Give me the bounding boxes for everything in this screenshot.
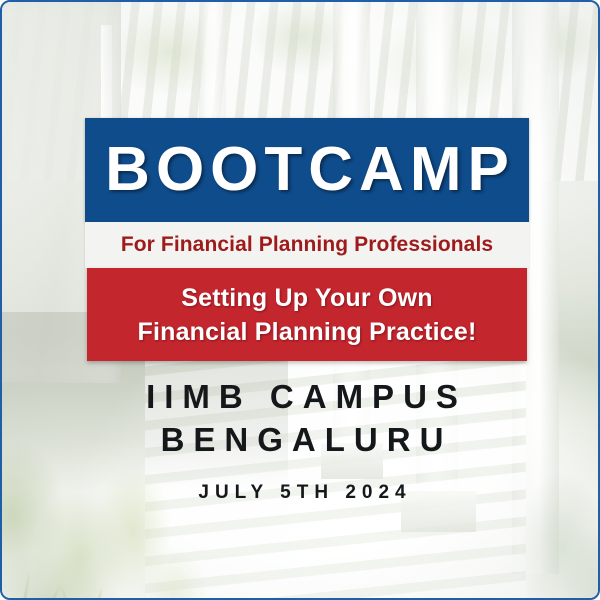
venue-line-1: IIMB CAMPUS <box>2 376 600 419</box>
audience-subtitle: For Financial Planning Professionals <box>121 233 493 257</box>
venue-block: IIMB CAMPUS BENGALURU JULY 5TH 2024 <box>2 376 600 504</box>
subtitle-band: For Financial Planning Professionals <box>85 222 529 268</box>
headline-band: Setting Up Your Own Financial Planning P… <box>87 268 527 361</box>
promo-flyer: BOOTCAMP For Financial Planning Professi… <box>0 0 600 600</box>
bootcamp-title: BOOTCAMP <box>99 139 515 201</box>
venue-line-2: BENGALURU <box>2 419 600 462</box>
event-date: JULY 5TH 2024 <box>2 482 600 504</box>
banner-stack: BOOTCAMP For Financial Planning Professi… <box>85 118 529 361</box>
headline-line-2: Financial Planning Practice! <box>137 316 476 348</box>
title-band: BOOTCAMP <box>85 118 529 222</box>
headline-line-1: Setting Up Your Own <box>181 282 432 314</box>
flyer-content: BOOTCAMP For Financial Planning Professi… <box>2 2 598 598</box>
